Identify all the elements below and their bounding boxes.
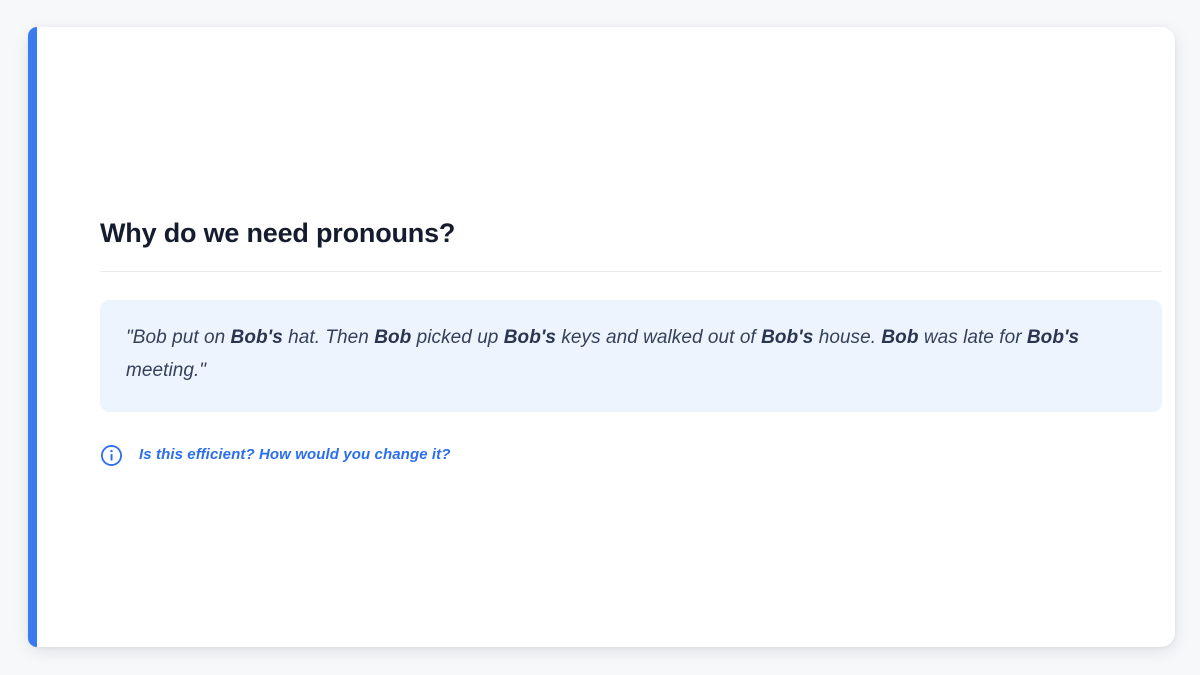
quote-fragment: was late for (918, 327, 1026, 348)
hint-text: Is this efficient? How would you change … (139, 446, 451, 464)
quote-fragment: "Bob put on (126, 327, 231, 348)
quote-emphasis: Bob's (1027, 327, 1079, 348)
hint-row: Is this efficient? How would you change … (100, 444, 1163, 467)
card-inner: Why do we need pronouns? "Bob put on Bob… (37, 27, 1175, 647)
quote-emphasis: Bob (881, 327, 918, 348)
slide-stage: Why do we need pronouns? "Bob put on Bob… (0, 0, 1200, 675)
info-circle-icon (100, 444, 123, 467)
title-divider (100, 271, 1161, 272)
quote-fragment: house. (813, 327, 881, 348)
quote-fragment: keys and walked out of (556, 327, 761, 348)
slide-card: Why do we need pronouns? "Bob put on Bob… (28, 27, 1175, 647)
quote-callout: "Bob put on Bob's hat. Then Bob picked u… (100, 300, 1162, 411)
quote-emphasis: Bob's (504, 327, 556, 348)
quote-fragment: picked up (411, 327, 503, 348)
quote-text: "Bob put on Bob's hat. Then Bob picked u… (126, 322, 1136, 387)
page-title: Why do we need pronouns? (100, 217, 1163, 271)
accent-bar (28, 27, 37, 647)
quote-emphasis: Bob (374, 327, 411, 348)
slide-content: Why do we need pronouns? "Bob put on Bob… (100, 217, 1163, 467)
quote-fragment: hat. Then (283, 327, 374, 348)
quote-emphasis: Bob's (761, 327, 813, 348)
quote-fragment: meeting." (126, 360, 206, 381)
quote-emphasis: Bob's (231, 327, 283, 348)
